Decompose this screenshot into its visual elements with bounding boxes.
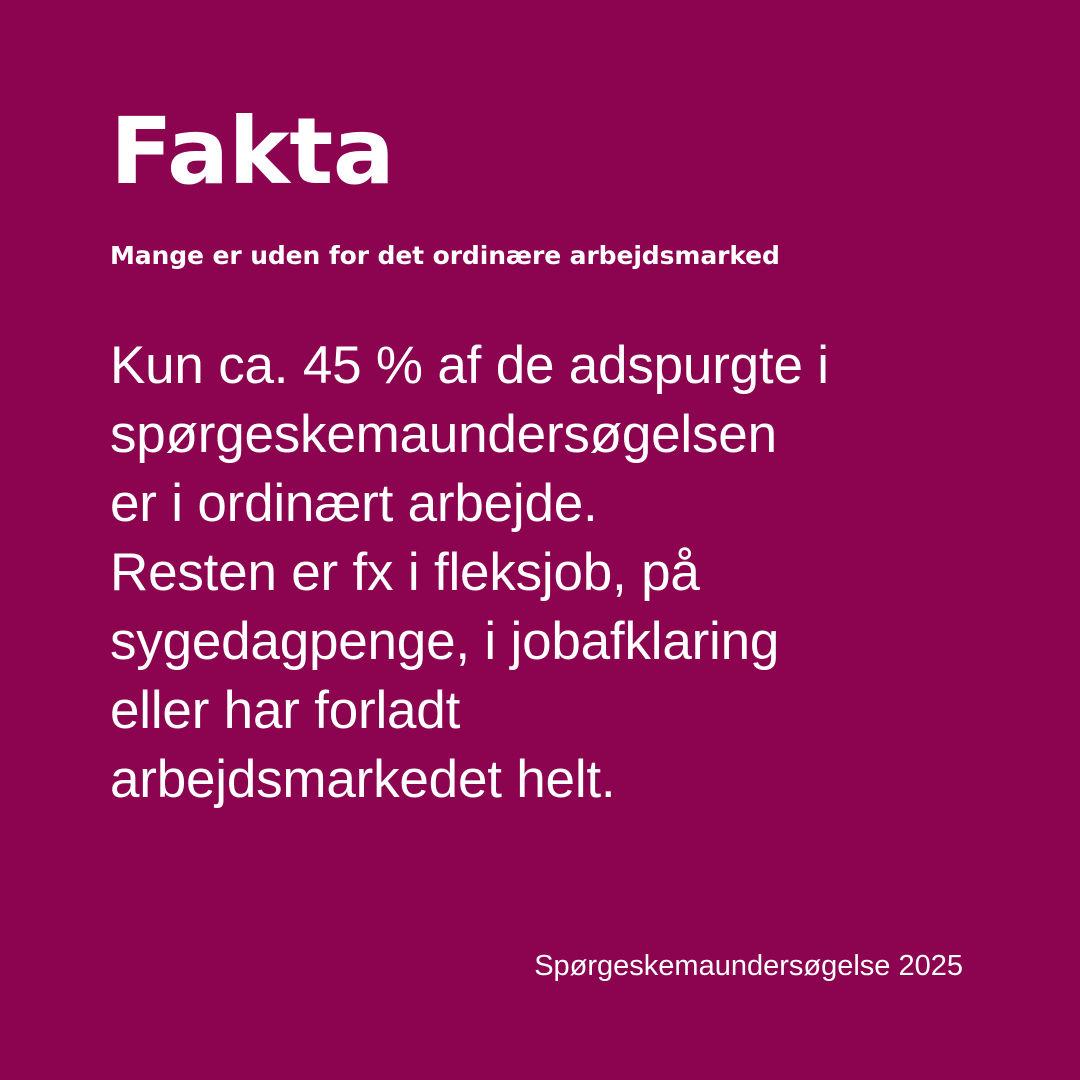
body-line: arbejdsmarkedet helt.	[110, 745, 990, 814]
body-line: Resten er fx i fleksjob, på	[110, 538, 990, 607]
body-line: er i ordinært arbejde.	[110, 469, 990, 538]
body-text-block: Kun ca. 45 % af de adspurgte i spørgeske…	[110, 331, 990, 814]
body-line: sygedagpenge, i jobafklaring	[110, 607, 990, 676]
header-block: Fakta Mange er uden for det ordinære arb…	[110, 108, 990, 271]
footer-block: Spørgeskemaundersøgelse 2025	[534, 949, 963, 984]
page-title: Fakta	[110, 108, 990, 195]
source-citation: Spørgeskemaundersøgelse 2025	[534, 949, 963, 984]
body-line: spørgeskemaundersøgelsen	[110, 400, 990, 469]
fakta-info-card: Fakta Mange er uden for det ordinære arb…	[0, 0, 1080, 1080]
body-line: eller har forladt	[110, 676, 990, 745]
body-line: Kun ca. 45 % af de adspurgte i	[110, 331, 990, 400]
page-subtitle: Mange er uden for det ordinære arbejdsma…	[110, 195, 990, 271]
